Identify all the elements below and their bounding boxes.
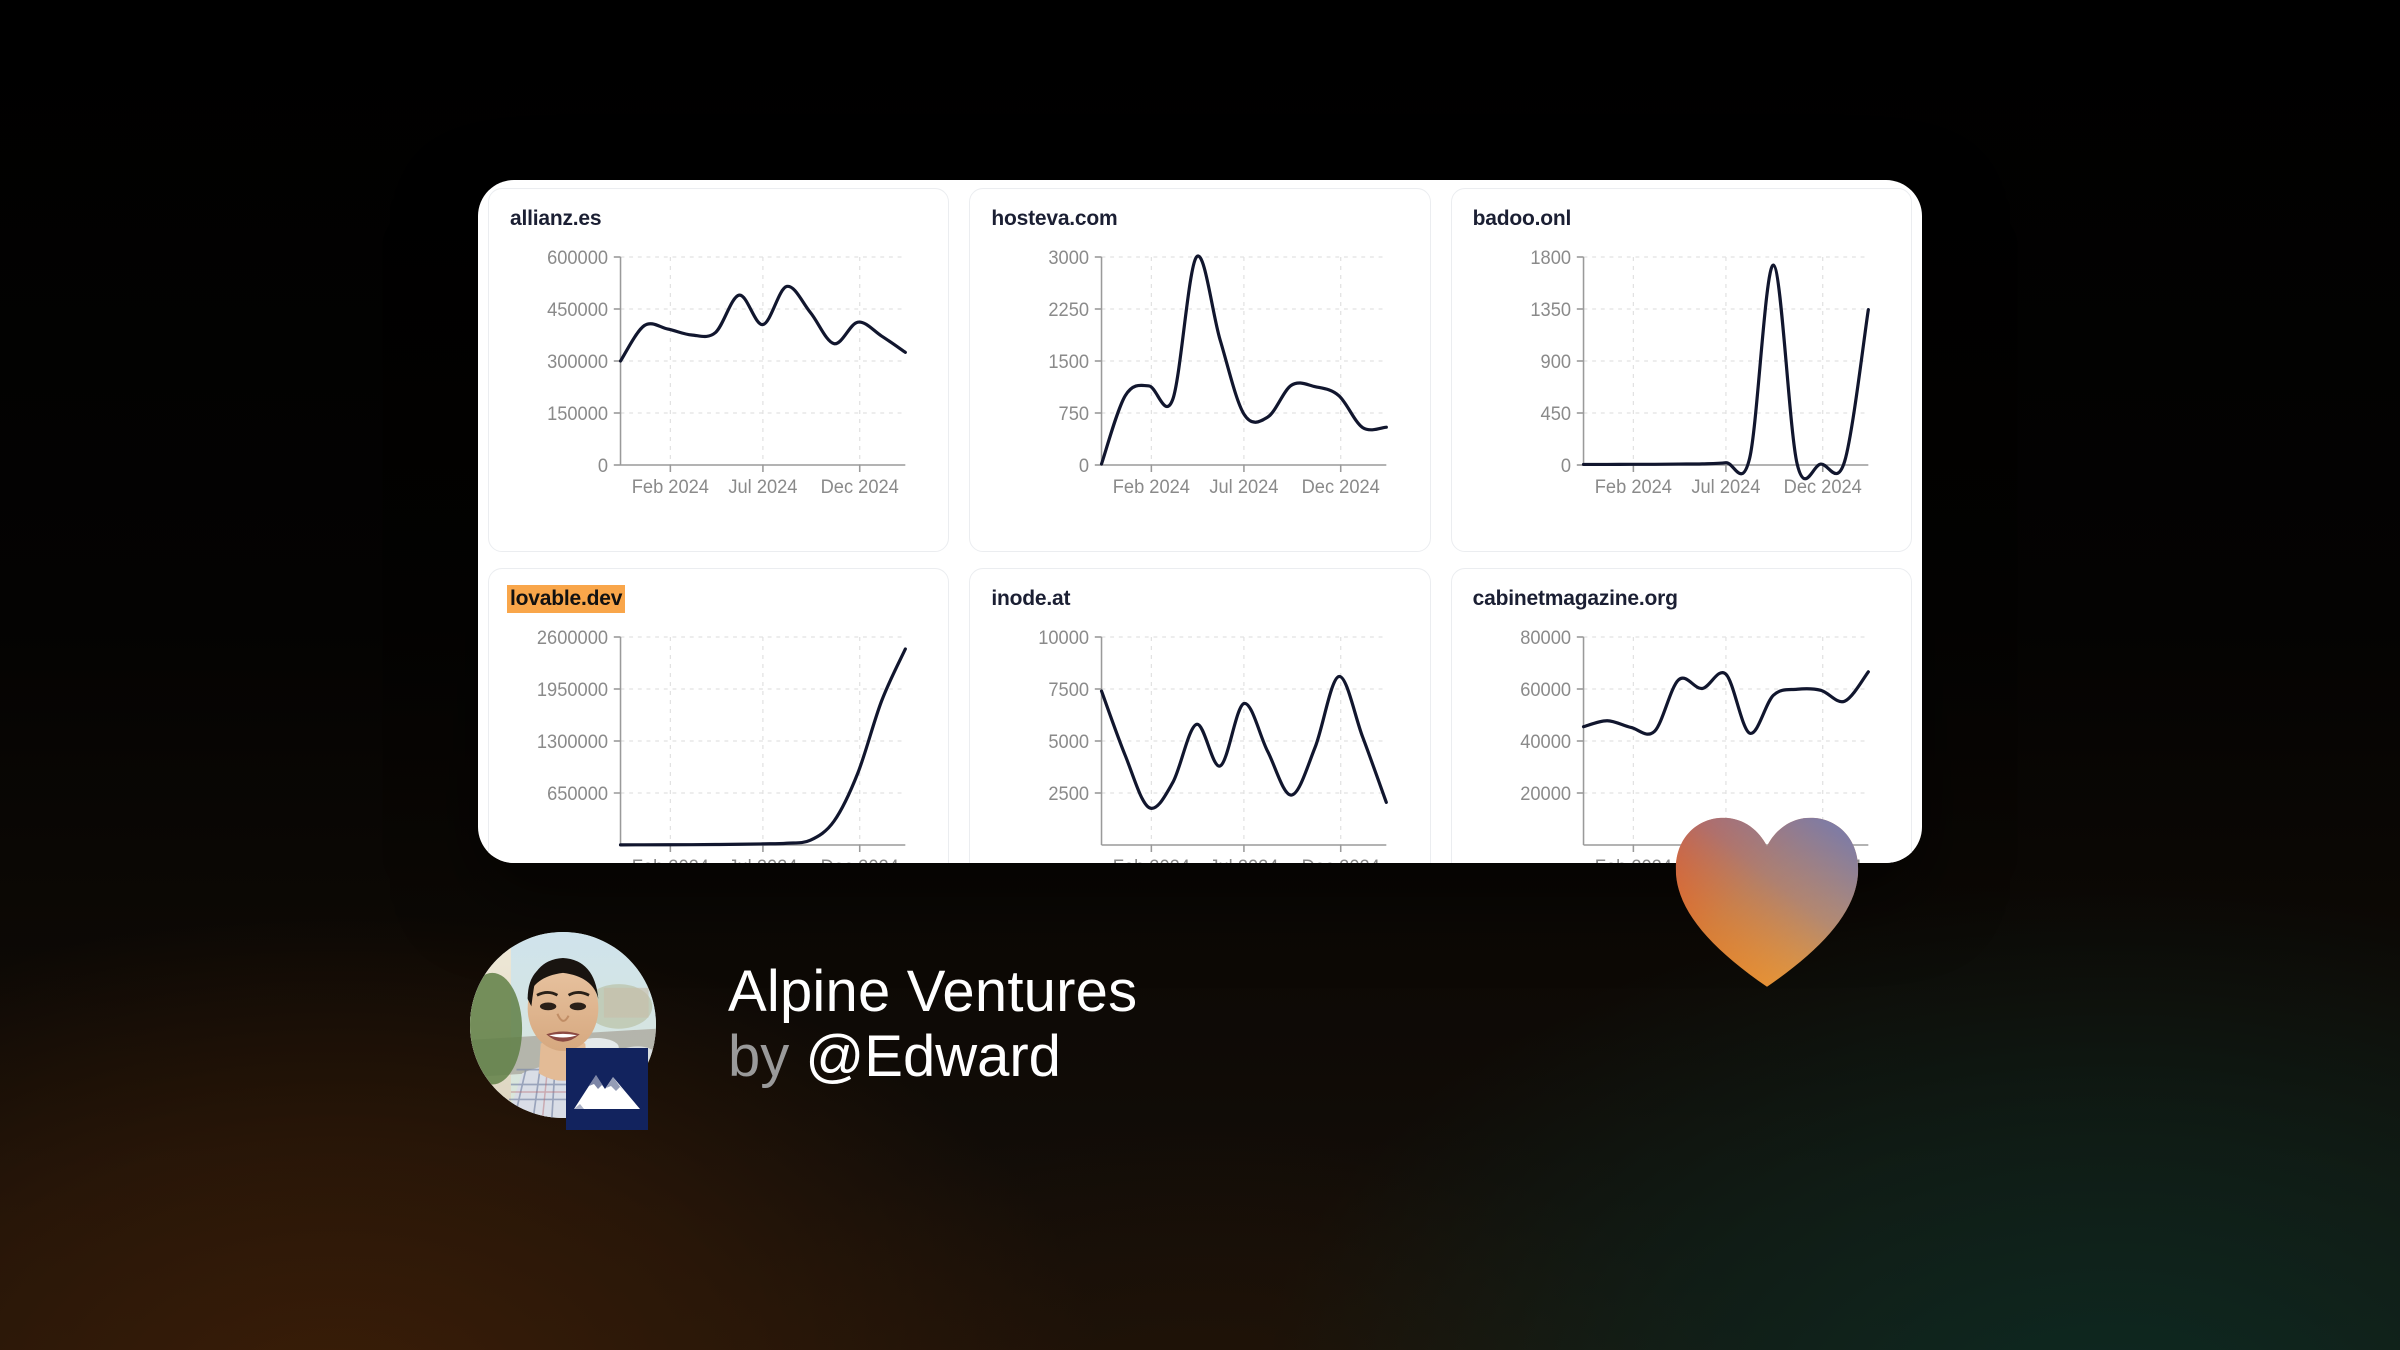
svg-text:Dec 2024: Dec 2024 bbox=[1302, 856, 1380, 863]
svg-text:Feb 2024: Feb 2024 bbox=[1594, 856, 1671, 863]
svg-text:Jul 2024: Jul 2024 bbox=[1691, 476, 1760, 497]
svg-text:1300000: 1300000 bbox=[537, 731, 608, 752]
svg-text:Feb 2024: Feb 2024 bbox=[1594, 476, 1671, 497]
chart-panel-title: inode.at bbox=[988, 585, 1073, 613]
svg-text:80000: 80000 bbox=[1520, 627, 1571, 648]
chart-panel[interactable]: lovable.dev650000130000019500002600000Fe… bbox=[488, 568, 949, 863]
svg-text:Dec 2024: Dec 2024 bbox=[821, 476, 899, 497]
chart-panel-title: lovable.dev bbox=[507, 585, 625, 613]
chart-panel[interactable]: allianz.es0150000300000450000600000Feb 2… bbox=[488, 188, 949, 552]
svg-text:Jul 2024: Jul 2024 bbox=[728, 476, 797, 497]
svg-text:600000: 600000 bbox=[547, 247, 608, 268]
brand-title: Alpine Ventures bbox=[728, 960, 1137, 1025]
svg-text:2600000: 2600000 bbox=[537, 627, 608, 648]
svg-text:Feb 2024: Feb 2024 bbox=[1113, 476, 1190, 497]
svg-text:450000: 450000 bbox=[547, 299, 608, 320]
chart-panel-title: allianz.es bbox=[507, 205, 604, 233]
brand-handle: @Edward bbox=[805, 1024, 1061, 1089]
avatar-wrap bbox=[470, 932, 656, 1118]
svg-text:40000: 40000 bbox=[1520, 731, 1571, 752]
svg-text:Feb 2024: Feb 2024 bbox=[632, 476, 709, 497]
svg-text:Dec 2024: Dec 2024 bbox=[1783, 476, 1861, 497]
chart-panel-title: cabinetmagazine.org bbox=[1470, 585, 1681, 613]
brand-badge-icon bbox=[566, 1048, 648, 1130]
svg-text:Jul 2024: Jul 2024 bbox=[728, 856, 797, 863]
line-chart: 045090013501800Feb 2024Jul 2024Dec 2024 bbox=[1470, 247, 1893, 505]
svg-text:Dec 2024: Dec 2024 bbox=[821, 856, 899, 863]
svg-text:900: 900 bbox=[1540, 351, 1570, 372]
line-chart: 25005000750010000Feb 2024Jul 2024Dec 202… bbox=[988, 627, 1411, 863]
branding-block: Alpine Ventures by @Edward bbox=[470, 932, 1137, 1118]
svg-text:2500: 2500 bbox=[1049, 783, 1090, 804]
brand-subtitle: by @Edward bbox=[728, 1025, 1137, 1090]
svg-text:150000: 150000 bbox=[547, 403, 608, 424]
svg-text:1500: 1500 bbox=[1049, 351, 1090, 372]
brand-by-label: by bbox=[728, 1024, 789, 1089]
chart-panel-title: badoo.onl bbox=[1470, 205, 1575, 233]
svg-text:450: 450 bbox=[1540, 403, 1570, 424]
svg-text:Jul 2024: Jul 2024 bbox=[1210, 476, 1279, 497]
svg-text:650000: 650000 bbox=[547, 783, 608, 804]
line-chart: 650000130000019500002600000Feb 2024Jul 2… bbox=[507, 627, 930, 863]
chart-grid: allianz.es0150000300000450000600000Feb 2… bbox=[478, 180, 1922, 863]
chart-panel[interactable]: inode.at25005000750010000Feb 2024Jul 202… bbox=[969, 568, 1430, 863]
svg-text:3000: 3000 bbox=[1049, 247, 1090, 268]
line-chart: 0150000300000450000600000Feb 2024Jul 202… bbox=[507, 247, 930, 505]
svg-text:5000: 5000 bbox=[1049, 731, 1090, 752]
dashboard-card: allianz.es0150000300000450000600000Feb 2… bbox=[478, 180, 1922, 863]
svg-text:1950000: 1950000 bbox=[537, 679, 608, 700]
svg-text:0: 0 bbox=[598, 455, 608, 476]
svg-text:300000: 300000 bbox=[547, 351, 608, 372]
svg-text:7500: 7500 bbox=[1049, 679, 1090, 700]
svg-text:10000: 10000 bbox=[1039, 627, 1090, 648]
chart-panel[interactable]: badoo.onl045090013501800Feb 2024Jul 2024… bbox=[1451, 188, 1912, 552]
chart-panel-title: hosteva.com bbox=[988, 205, 1120, 233]
chart-panel[interactable]: hosteva.com0750150022503000Feb 2024Jul 2… bbox=[969, 188, 1430, 552]
svg-text:750: 750 bbox=[1059, 403, 1089, 424]
heart-icon bbox=[1672, 812, 1862, 992]
svg-text:20000: 20000 bbox=[1520, 783, 1571, 804]
svg-text:0: 0 bbox=[1079, 455, 1089, 476]
svg-text:60000: 60000 bbox=[1520, 679, 1571, 700]
line-chart: 0750150022503000Feb 2024Jul 2024Dec 2024 bbox=[988, 247, 1411, 505]
svg-text:Feb 2024: Feb 2024 bbox=[632, 856, 709, 863]
svg-text:Jul 2024: Jul 2024 bbox=[1210, 856, 1279, 863]
svg-text:1800: 1800 bbox=[1530, 247, 1571, 268]
svg-text:2250: 2250 bbox=[1049, 299, 1090, 320]
brand-text: Alpine Ventures by @Edward bbox=[728, 960, 1137, 1090]
svg-text:0: 0 bbox=[1561, 455, 1571, 476]
svg-text:Dec 2024: Dec 2024 bbox=[1302, 476, 1380, 497]
svg-text:Feb 2024: Feb 2024 bbox=[1113, 856, 1190, 863]
svg-text:1350: 1350 bbox=[1530, 299, 1571, 320]
